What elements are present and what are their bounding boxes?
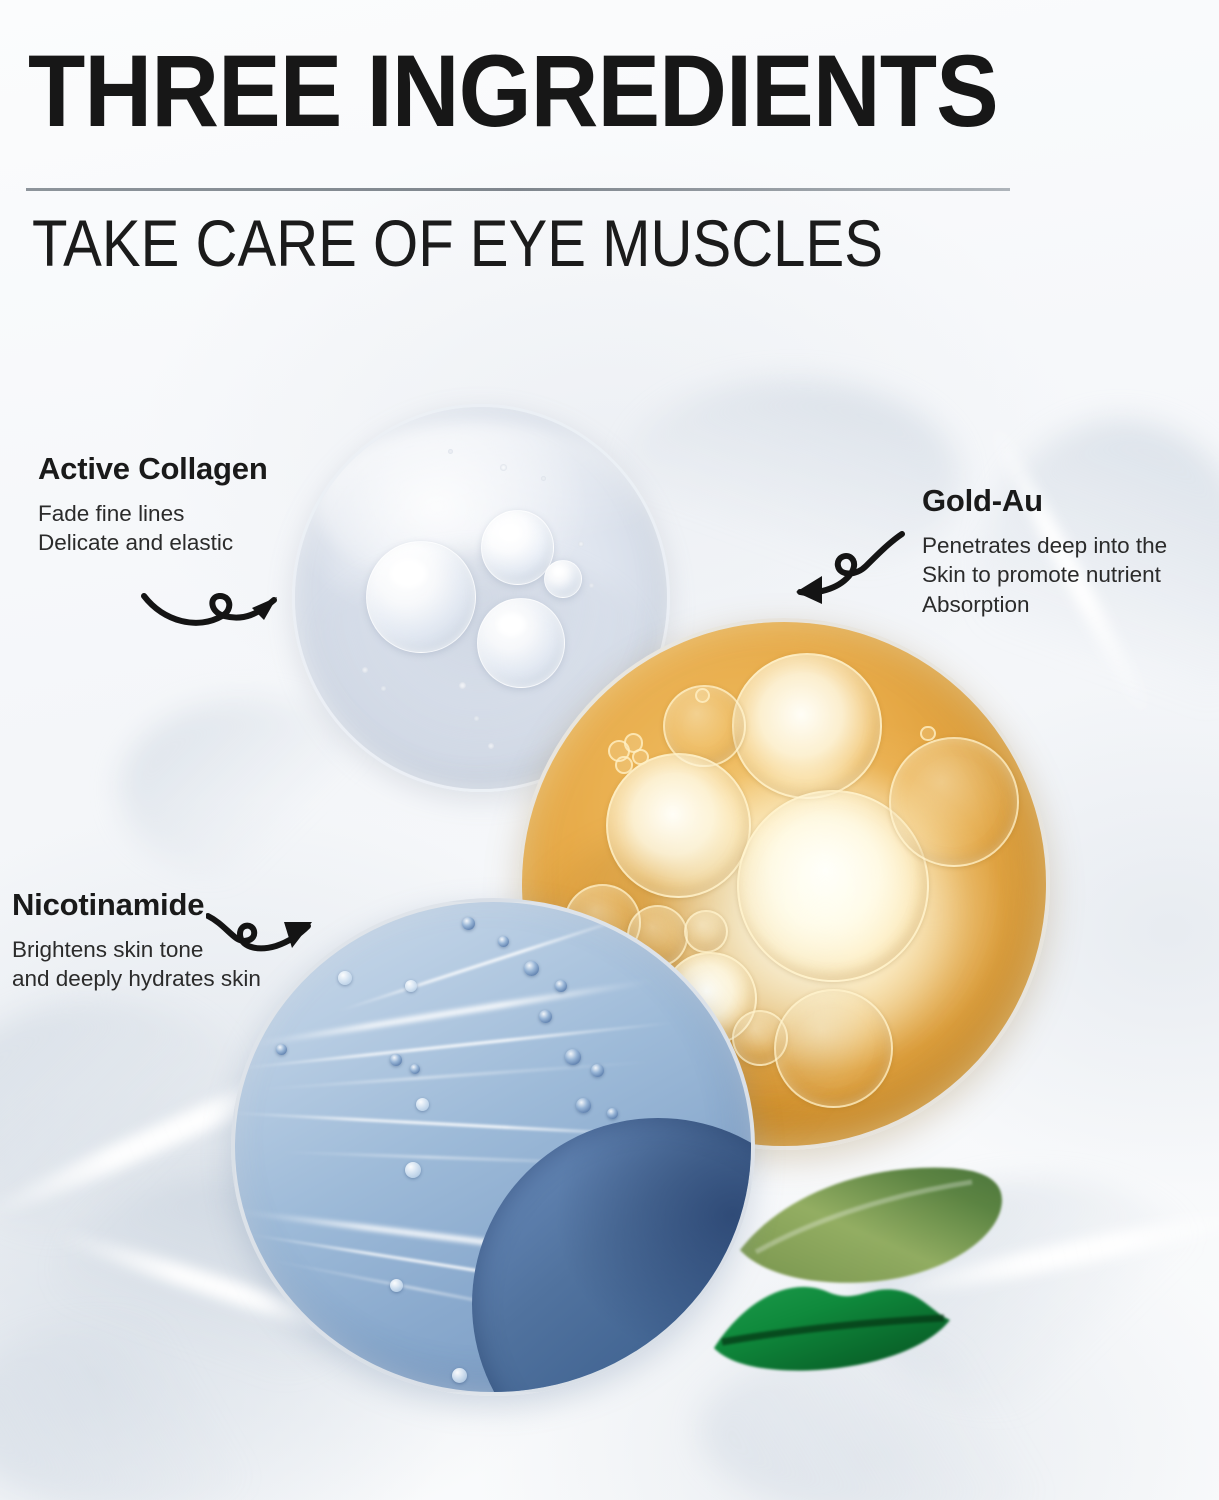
micro-droplet-6: [362, 667, 368, 673]
label-gold-au-line-1: Penetrates deep into the: [922, 531, 1167, 560]
oil-cluster-dot-3: [615, 756, 633, 774]
infographic-page: THREE INGREDIENTS TAKE CARE OF EYE MUSCL…: [0, 0, 1219, 1500]
water-bead-7: [591, 1064, 604, 1077]
curly-arrow-right-icon: [140, 560, 300, 650]
water-bead-10: [390, 1054, 402, 1066]
oil-bubble-bottom: [774, 989, 893, 1108]
blue-hydration-disc: [231, 898, 755, 1396]
micro-droplet-3: [541, 476, 546, 481]
label-gold-au-title: Gold-Au: [922, 484, 1167, 518]
gel-bubble-right: [477, 598, 565, 688]
gel-bubble-small: [544, 560, 581, 598]
label-gold-au-line-3: Absorption: [922, 590, 1167, 619]
oil-cluster-dot-4: [632, 749, 649, 766]
water-bead-1: [462, 917, 475, 930]
oil-bubble-top: [732, 653, 883, 798]
label-gold-au: Gold-Au Penetrates deep into the Skin to…: [922, 484, 1167, 619]
micro-droplet-5: [589, 583, 594, 588]
label-active-collagen-title: Active Collagen: [38, 452, 268, 486]
label-active-collagen-line-1: Fade fine lines: [38, 499, 268, 528]
gel-bubble-large: [366, 541, 476, 654]
water-bead-5: [539, 1010, 552, 1023]
oil-bubble-left: [606, 753, 751, 898]
curly-arrow-right-down-icon: [206, 896, 326, 972]
water-bead-20: [452, 1368, 467, 1383]
oil-cluster-dot-6: [920, 726, 936, 742]
water-bead-16: [405, 1162, 421, 1178]
micro-droplet-1: [448, 449, 453, 454]
water-bead-2: [498, 936, 509, 947]
water-bead-14: [405, 980, 417, 992]
water-wave-9: [335, 911, 640, 1013]
water-wave-1: [247, 978, 656, 1049]
water-bead-15: [416, 1098, 429, 1111]
label-active-collagen-line-2: Delicate and elastic: [38, 528, 268, 557]
title-divider: [26, 188, 1010, 191]
page-subtitle: TAKE CARE OF EYE MUSCLES: [32, 210, 883, 276]
water-bead-8: [576, 1098, 591, 1113]
water-bead-9: [607, 1108, 618, 1119]
label-gold-au-line-2: Skin to promote nutrient: [922, 560, 1167, 589]
water-bead-12: [276, 1044, 287, 1055]
water-bead-17: [390, 1279, 403, 1292]
micro-droplet-2: [500, 464, 507, 471]
oil-bubble-right: [889, 737, 1019, 867]
gel-bubble-medium: [481, 510, 554, 585]
water-bead-11: [410, 1064, 420, 1074]
micro-droplet-4: [578, 541, 584, 547]
page-title: THREE INGREDIENTS: [28, 40, 998, 142]
water-bead-4: [555, 980, 567, 992]
water-bead-3: [524, 961, 539, 976]
curly-arrow-down-left-icon: [786, 528, 906, 618]
water-bead-13: [338, 971, 352, 985]
micro-droplet-8: [459, 682, 466, 689]
micro-droplet-7: [381, 686, 386, 691]
label-active-collagen: Active Collagen Fade fine lines Delicate…: [38, 452, 268, 558]
water-bead-6: [565, 1049, 581, 1065]
oil-bubble-tiny-mid: [684, 910, 727, 953]
